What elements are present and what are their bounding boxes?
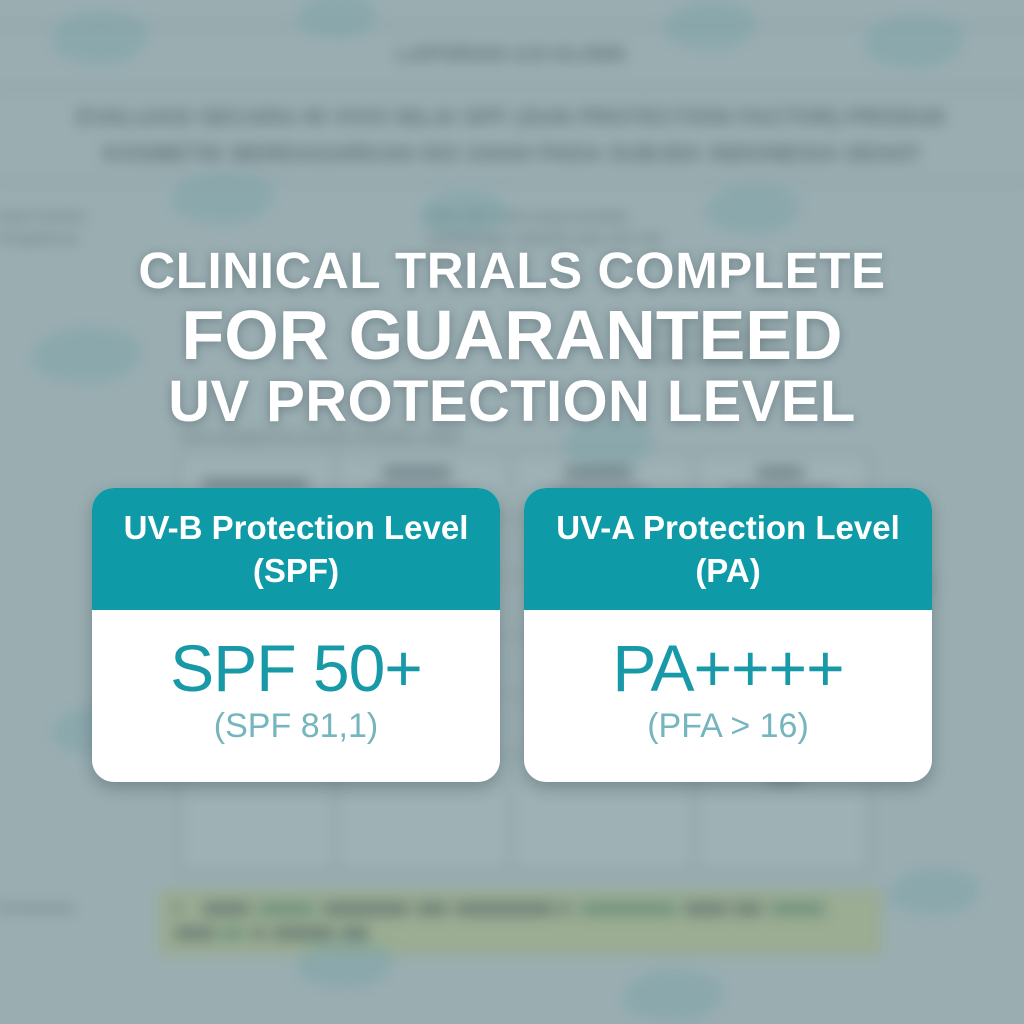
uvb-spf-value: SPF 50+	[170, 632, 422, 704]
headline-block: CLINICAL TRIALS COMPLETE FOR GUARANTEED …	[0, 243, 1024, 433]
promo-graphic: LAPORAN UJI KLINIK EVALUASI SECARA IN VI…	[0, 0, 1024, 1024]
uvb-protection-card: UV-B Protection Level (SPF) SPF 50+ (SPF…	[92, 488, 500, 782]
uva-card-body: PA++++ (PFA > 16)	[524, 610, 932, 782]
protection-cards: UV-B Protection Level (SPF) SPF 50+ (SPF…	[92, 488, 932, 782]
headline-line-2: FOR GUARANTEED	[0, 299, 1024, 371]
uva-card-header: UV-A Protection Level (PA)	[524, 488, 932, 610]
uva-pa-value: PA++++	[612, 632, 843, 704]
headline-line-3: UV PROTECTION LEVEL	[0, 371, 1024, 433]
uvb-spf-measured: (SPF 81,1)	[214, 706, 378, 746]
uva-protection-card: UV-A Protection Level (PA) PA++++ (PFA >…	[524, 488, 932, 782]
uvb-card-body: SPF 50+ (SPF 81,1)	[92, 610, 500, 782]
headline-line-1: CLINICAL TRIALS COMPLETE	[0, 243, 1024, 299]
uva-pfa-measured: (PFA > 16)	[647, 706, 809, 746]
uvb-card-header: UV-B Protection Level (SPF)	[92, 488, 500, 610]
